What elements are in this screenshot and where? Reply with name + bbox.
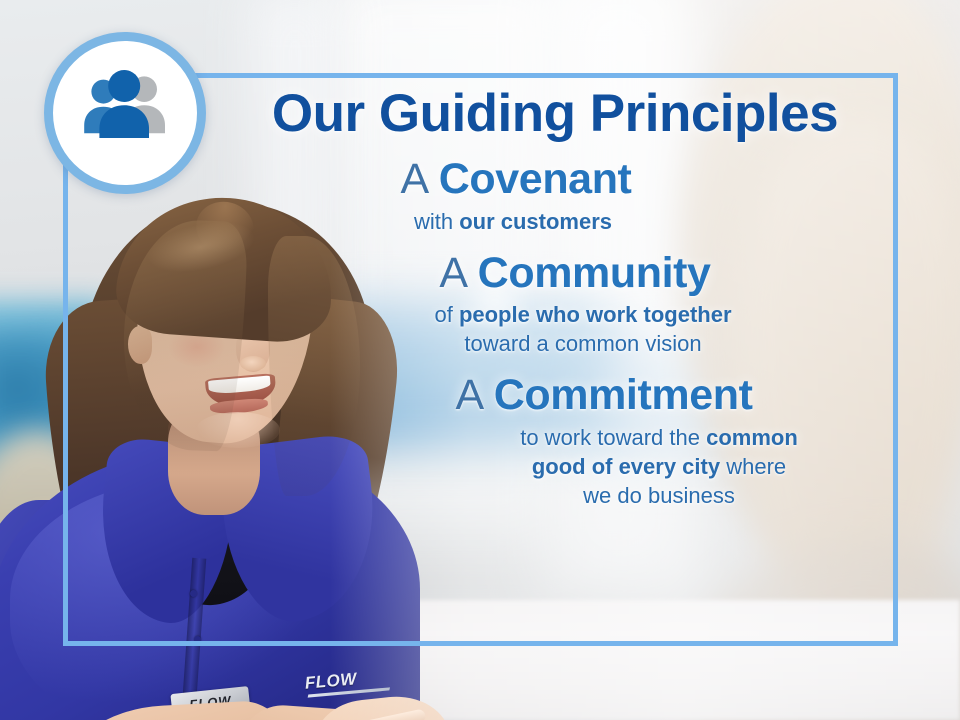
principle-commitment: A Commitment to work toward the common g… [210, 372, 900, 510]
principle-subtext: with our customers [210, 207, 822, 236]
subtext-line: with our customers [210, 207, 816, 236]
principle-word: Covenant [439, 155, 632, 203]
principle-article: A [439, 249, 465, 297]
subtext-line: of people who work together [266, 300, 900, 329]
principle-subtext: of people who work together toward a com… [250, 300, 900, 358]
people-group-icon [77, 67, 173, 145]
subtext-line: we do business [418, 481, 900, 510]
subtext-line: toward a common vision [266, 329, 900, 358]
shirt-button [194, 636, 201, 643]
principle-headline: A Community [250, 250, 900, 296]
shirt-button [190, 590, 197, 597]
guiding-principles-graphic: FLOW AUTOMOTIVE FLOW [0, 0, 960, 720]
chest-logo-text: FLOW [304, 669, 358, 692]
page-title: Our Guiding Principles [210, 86, 900, 142]
principle-covenant: A Covenant with our customers [210, 156, 900, 235]
subtext-line: to work toward the common [418, 423, 900, 452]
principle-article: A [455, 371, 481, 419]
principle-headline: A Commitment [308, 372, 900, 418]
principle-subtext: to work toward the common good of every … [308, 423, 900, 510]
principle-community: A Community of people who work together … [210, 250, 900, 359]
principle-word: Commitment [494, 371, 753, 419]
principle-article: A [401, 155, 427, 203]
principles-content: Our Guiding Principles A Covenant with o… [210, 86, 900, 646]
principle-word: Community [478, 249, 711, 297]
principle-headline: A Covenant [210, 156, 822, 202]
people-badge [44, 32, 206, 194]
subtext-line: good of every city where [418, 452, 900, 481]
